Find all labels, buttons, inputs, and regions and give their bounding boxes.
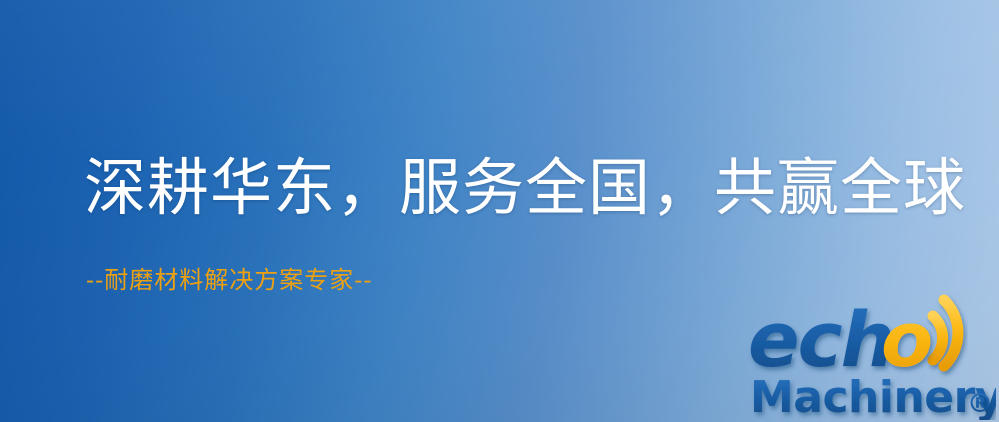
banner-headline: 深耕华东，服务全国，共赢全球 [84,152,966,224]
banner-subtitle: --耐磨材料解决方案专家-- [86,265,372,295]
logo-wordmark-ech: ech [748,295,893,384]
promo-banner: 深耕华东，服务全国，共赢全球 --耐磨材料解决方案专家-- [0,0,999,422]
logo-wordmark-machinery: Machinery [750,372,996,420]
logo-trademark-icon: ® [967,389,993,419]
logo-wordmark-o: o [881,295,933,384]
echo-wave-icon [933,300,958,366]
echo-machinery-logo[interactable]: ech o Machinery ® [748,292,996,420]
